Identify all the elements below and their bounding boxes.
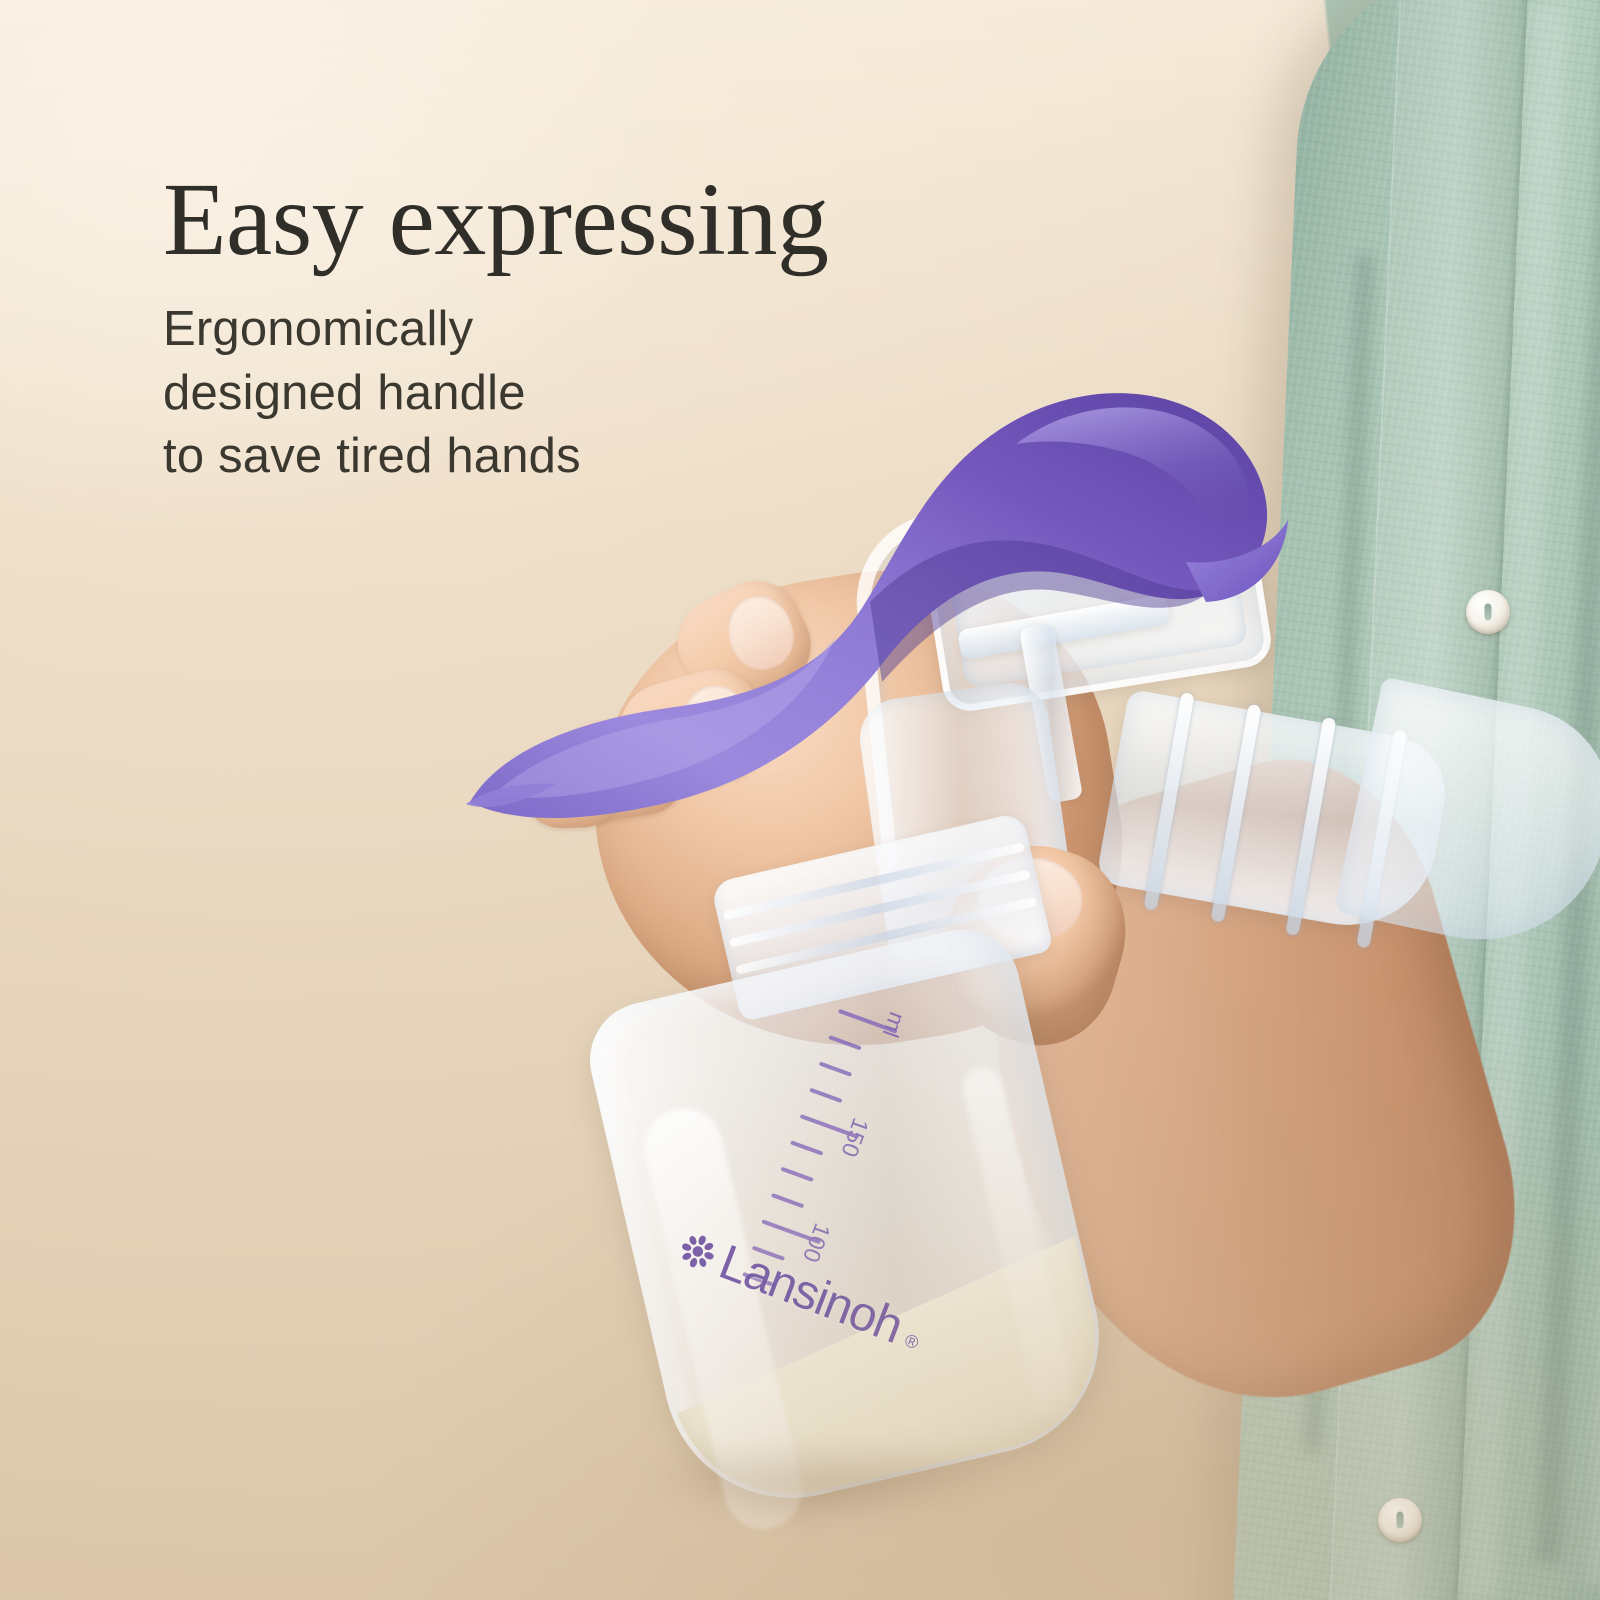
scale-unit-label: ml [877,1008,911,1041]
scale-tick-minor [790,1140,823,1155]
headline: Easy expressing [163,168,943,272]
scale-tick-minor [771,1193,804,1208]
marketing-image-canvas: ml 150 100 [0,0,1600,1600]
subcopy-line-1: Ergonomically [163,298,943,362]
subcopy-line-3: to save tired hands [163,425,943,489]
scale-tick-minor [809,1088,842,1103]
scale-tick-minor [819,1061,852,1076]
subcopy: Ergonomically designed handle to save ti… [163,298,943,489]
subcopy-line-2: designed handle [163,362,943,426]
scale-label-150: 150 [835,1114,874,1161]
shirt-button [1378,1498,1422,1542]
scale-tick-minor [780,1167,813,1182]
copy-block: Easy expressing Ergonomically designed h… [163,168,943,489]
shirt-button [1466,590,1510,634]
contact-shadow [560,1420,1080,1540]
scale-label-100: 100 [797,1220,836,1267]
scale-tick-minor [828,1035,861,1050]
